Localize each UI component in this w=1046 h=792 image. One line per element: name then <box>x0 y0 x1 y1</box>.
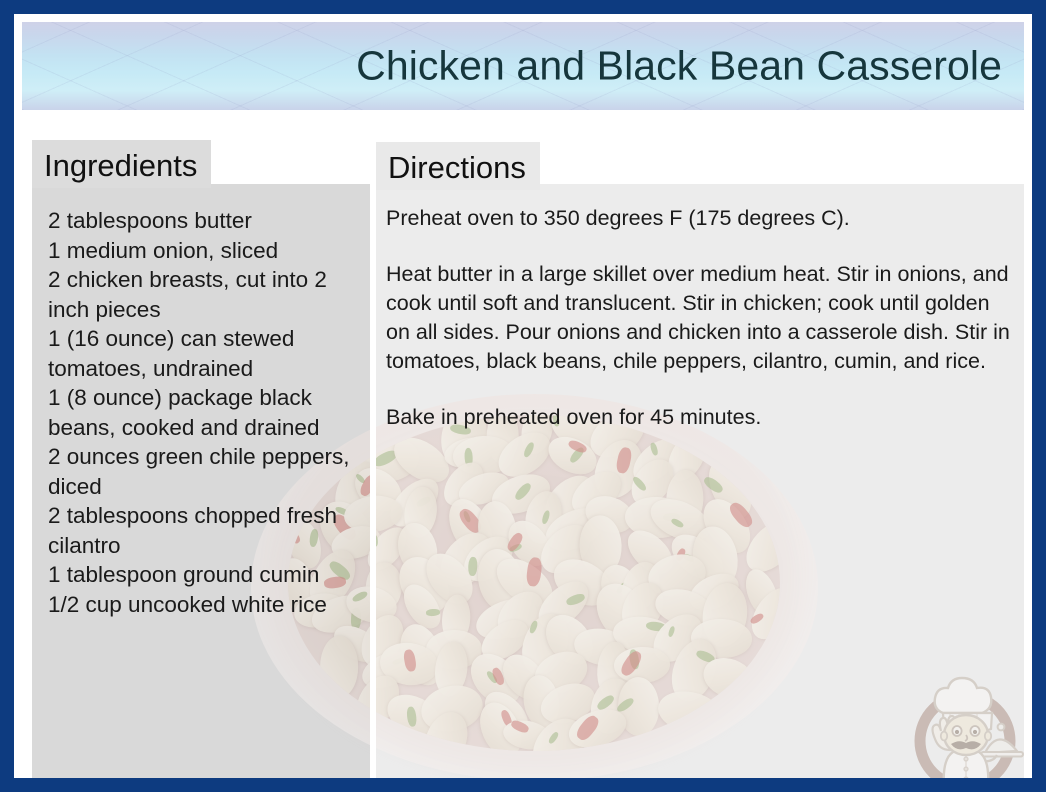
list-item: 1 (8 ounce) package black beans, cooked … <box>48 383 354 442</box>
list-item: 1 medium onion, sliced <box>48 236 354 266</box>
ingredients-list: 2 tablespoons butter 1 medium onion, sli… <box>48 206 354 619</box>
direction-paragraph: Preheat oven to 350 degrees F (175 degre… <box>386 204 1010 233</box>
chef-mascot-logo <box>907 657 1029 791</box>
section-header-directions: Directions <box>376 142 540 190</box>
direction-paragraph: Heat butter in a large skillet over medi… <box>386 260 1010 376</box>
list-item: 1 tablespoon ground cumin <box>48 560 354 590</box>
list-item: 2 chicken breasts, cut into 2 inch piece… <box>48 265 354 324</box>
list-item: 1 (16 ounce) can stewed tomatoes, undrai… <box>48 324 354 383</box>
list-item: 2 ounces green chile peppers, diced <box>48 442 354 501</box>
panel-separator <box>370 184 376 792</box>
section-header-ingredients: Ingredients <box>32 140 211 188</box>
list-item: 1/2 cup uncooked white rice <box>48 590 354 620</box>
page-title: Chicken and Black Bean Casserole <box>356 43 1002 90</box>
title-banner: Chicken and Black Bean Casserole <box>22 22 1024 110</box>
directions-content: Preheat oven to 350 degrees F (175 degre… <box>376 184 1024 432</box>
chef-logo-svg <box>907 657 1029 791</box>
recipe-slide: Chicken and Black Bean Casserole 2 table… <box>0 0 1046 792</box>
ingredients-panel: 2 tablespoons butter 1 medium onion, sli… <box>32 184 370 792</box>
ingredients-content: 2 tablespoons butter 1 medium onion, sli… <box>32 184 370 619</box>
list-item: 2 tablespoons butter <box>48 206 354 236</box>
direction-paragraph: Bake in preheated oven for 45 minutes. <box>386 403 1010 432</box>
list-item: 2 tablespoons chopped fresh cilantro <box>48 501 354 560</box>
